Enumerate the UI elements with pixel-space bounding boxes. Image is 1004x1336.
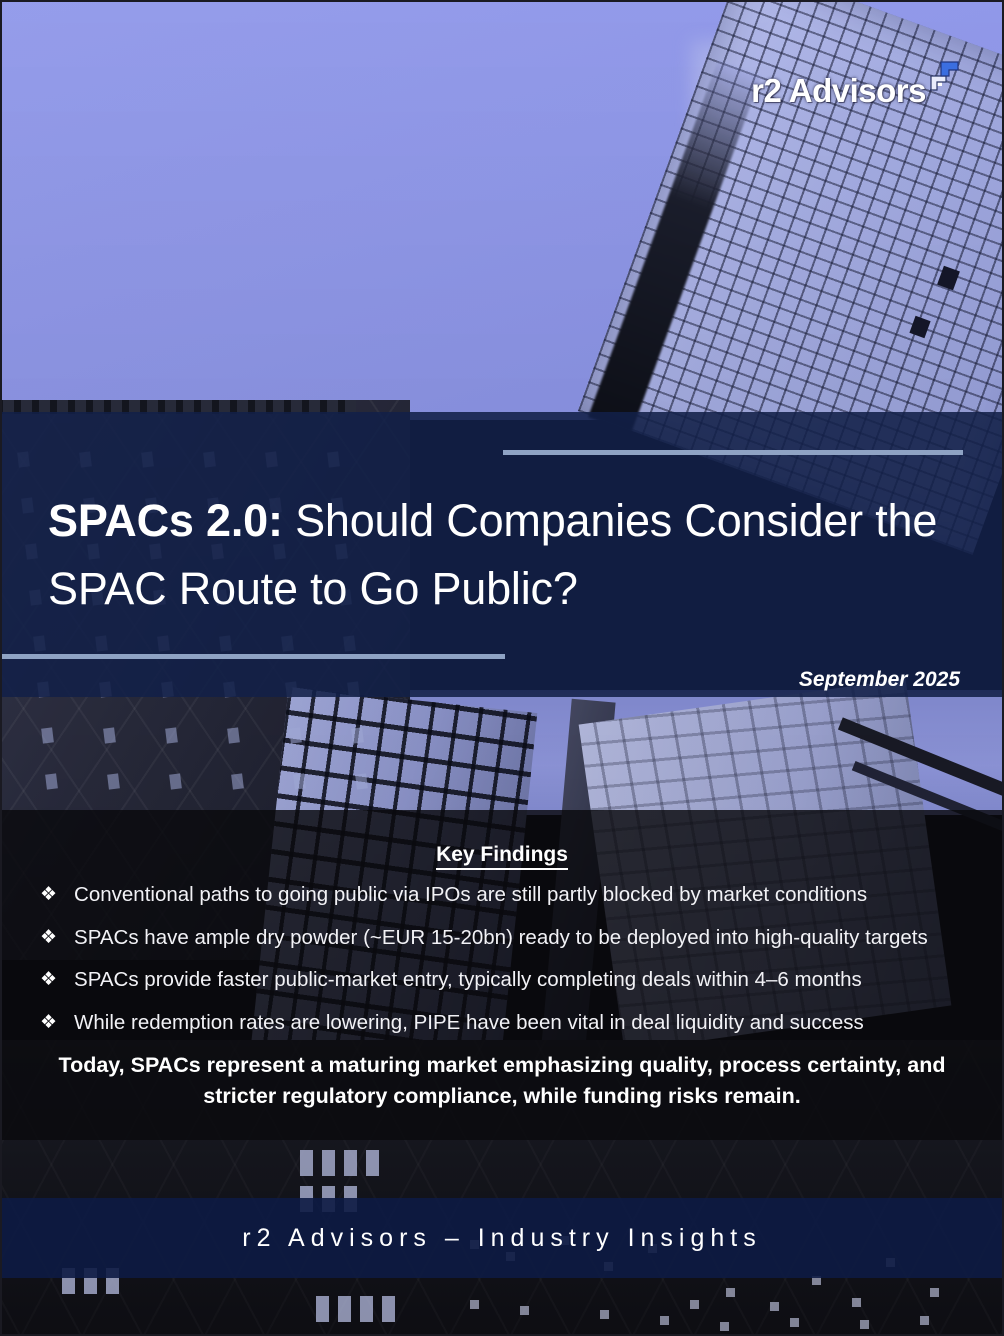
page-title-lead: SPACs 2.0: (48, 495, 283, 546)
page-title: SPACs 2.0: Should Companies Consider the… (48, 487, 948, 624)
footer-text: r2 Advisors – Industry Insights (0, 1224, 1004, 1253)
building-window (169, 773, 182, 789)
building-window (45, 773, 58, 789)
lit-window-small (790, 1318, 799, 1327)
lit-window-small (920, 1316, 929, 1325)
diamond-bullet-icon: ❖ (40, 882, 57, 907)
key-findings-list: ❖ Conventional paths to going public via… (0, 882, 1004, 1053)
building-window (293, 773, 306, 789)
lit-window (300, 1150, 313, 1176)
list-item: ❖ Conventional paths to going public via… (0, 882, 1004, 909)
lit-window (322, 1150, 335, 1176)
diamond-bullet-icon: ❖ (40, 1010, 57, 1035)
lit-window-small (852, 1298, 861, 1307)
lit-window-small (600, 1310, 609, 1319)
decorative-rule-bottom (0, 654, 505, 659)
key-findings-heading-text: Key Findings (436, 843, 568, 870)
publication-date: September 2025 (799, 668, 960, 692)
building-window (227, 727, 240, 743)
double-arrow-up-right-icon (928, 56, 962, 96)
building-window (103, 727, 116, 743)
key-findings-heading: Key Findings (0, 843, 1004, 867)
building-window (289, 727, 302, 743)
lit-window-small (770, 1302, 779, 1311)
building-window (107, 773, 120, 789)
document-cover-page: r2 Advisors SPACs 2.0: Should Companies … (0, 0, 1004, 1336)
lit-window-small (690, 1300, 699, 1309)
lit-window-small (660, 1316, 669, 1325)
diamond-bullet-icon: ❖ (40, 967, 57, 992)
lit-window (366, 1150, 379, 1176)
building-window (231, 773, 244, 789)
building-window (165, 727, 178, 743)
lit-window-small (720, 1322, 729, 1331)
lit-window-small (470, 1300, 479, 1309)
lit-window (344, 1150, 357, 1176)
list-item: ❖ While redemption rates are lowering, P… (0, 1010, 1004, 1037)
lit-window (382, 1296, 395, 1322)
lit-window (360, 1296, 373, 1322)
lit-window (316, 1296, 329, 1322)
list-item: ❖ SPACs provide faster public-market ent… (0, 967, 1004, 994)
building-window (41, 727, 54, 743)
building-window (351, 727, 364, 743)
lit-window-small (726, 1288, 735, 1297)
diamond-bullet-icon: ❖ (40, 925, 57, 950)
key-findings-conclusion: Today, SPACs represent a maturing market… (34, 1050, 970, 1111)
list-item-text: SPACs have ample dry powder (~EUR 15-20b… (74, 925, 970, 952)
lit-window-small (930, 1288, 939, 1297)
brand-logo: r2 Advisors (751, 72, 962, 110)
list-item-text: Conventional paths to going public via I… (74, 882, 970, 909)
lit-window (338, 1296, 351, 1322)
list-item-text: While redemption rates are lowering, PIP… (74, 1010, 970, 1037)
building-window (355, 773, 368, 789)
decorative-rule-top (503, 450, 963, 455)
brand-logo-text: r2 Advisors (751, 72, 926, 110)
lit-window-small (860, 1320, 869, 1329)
lit-window-small (520, 1306, 529, 1315)
list-item: ❖ SPACs have ample dry powder (~EUR 15-2… (0, 925, 1004, 952)
list-item-text: SPACs provide faster public-market entry… (74, 967, 970, 994)
